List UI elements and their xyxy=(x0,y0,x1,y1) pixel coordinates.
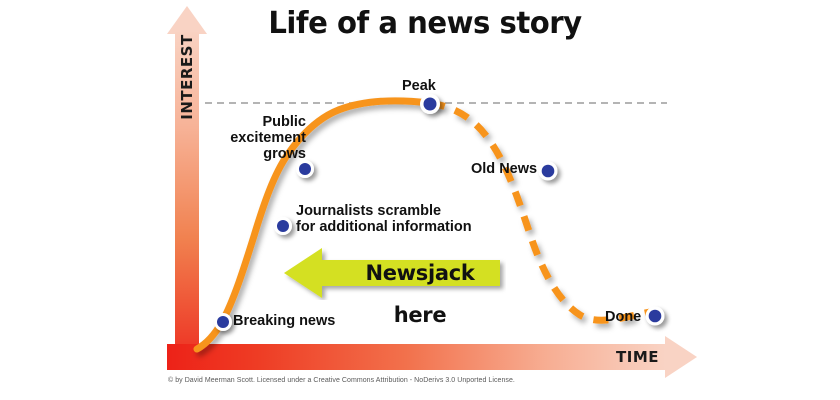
marker-done[interactable] xyxy=(646,307,665,326)
infographic-canvas: Life of a news story INTEREST TIME xyxy=(0,0,840,400)
copyright-credit: © by David Meerman Scott. Licensed under… xyxy=(168,377,515,384)
marker-old-news[interactable] xyxy=(539,162,558,181)
label-old-news: Old News xyxy=(471,161,537,177)
label-journalists-scramble: Journalists scramble for additional info… xyxy=(296,203,472,235)
curve-plot xyxy=(0,0,840,400)
marker-peak[interactable] xyxy=(420,94,440,114)
label-breaking-news: Breaking news xyxy=(233,313,335,329)
label-public-excitement: Public excitement grows xyxy=(196,114,306,162)
marker-breaking-news[interactable] xyxy=(214,313,232,331)
marker-journalists-scramble[interactable] xyxy=(274,217,292,235)
label-peak: Peak xyxy=(402,78,436,94)
newsjack-callout[interactable]: Newsjack here xyxy=(284,246,506,300)
marker-public-excitement[interactable] xyxy=(296,160,314,178)
label-done: Done xyxy=(605,309,641,325)
newsjack-label: Newsjack here xyxy=(340,252,500,336)
